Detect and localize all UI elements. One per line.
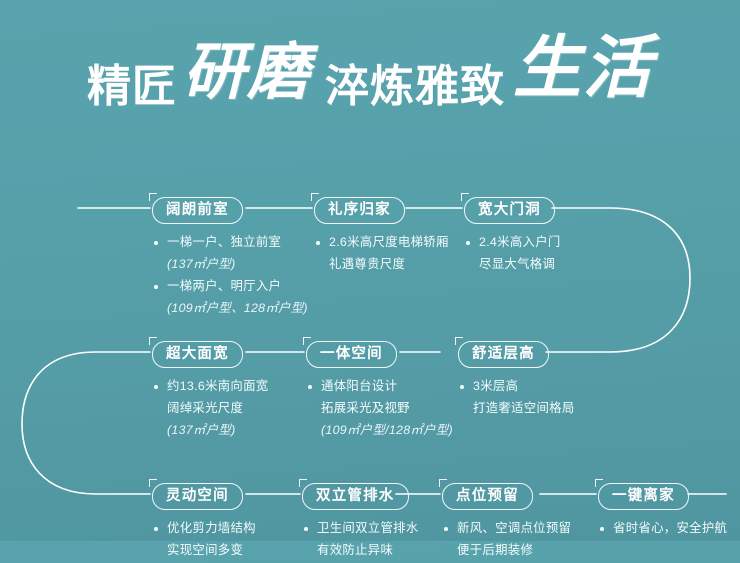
bullet-dot [460, 385, 464, 389]
card-body: 卫生间双立管排水 有效防止异味 [302, 519, 419, 560]
list-item-text: 礼遇尊贵尺度 [329, 257, 405, 271]
card-title: 超大面宽 [152, 341, 243, 368]
card-pill: 点位预留 [442, 483, 533, 510]
bullet-dot [154, 241, 158, 245]
list-item: (137㎡户型) [154, 255, 308, 274]
list-item-text: 拓展采光及视野 [321, 401, 410, 415]
list-item-text: (109㎡户型/128㎡户型) [321, 423, 453, 437]
headline-part-1: 精匠 [87, 65, 177, 109]
headline-part-2: 研磨 [183, 42, 311, 104]
card-pill: 礼序归家 [314, 197, 405, 224]
card-pill: 宽大门洞 [464, 197, 555, 224]
card-body: 一梯一户、独立前室 (137㎡户型) 一梯两户、明厅入户 (109㎡户型、128… [152, 233, 308, 318]
list-item: 2.4米高入户门 [466, 233, 561, 252]
list-item-text: 卫生间双立管排水 [317, 521, 419, 535]
card-title: 宽大门洞 [464, 197, 555, 224]
feature-card-yiti-kongjian[interactable]: 一体空间 通体阳台设计 拓展采光及视野 (109㎡户型/128㎡户型) [306, 341, 453, 443]
list-item-text: 2.4米高入户门 [479, 235, 561, 249]
list-item: 新风、空调点位预留 [444, 519, 571, 538]
card-title: 一体空间 [306, 341, 397, 368]
feature-card-lixu-guijia[interactable]: 礼序归家 2.6米高尺度电梯轿厢 礼遇尊贵尺度 [314, 197, 449, 277]
list-item: 礼遇尊贵尺度 [316, 255, 449, 274]
bullet-dot [466, 241, 470, 245]
bullet-dot [600, 527, 604, 531]
bullet-dot [154, 527, 158, 531]
feature-card-dianwei-yuliu[interactable]: 点位预留 新风、空调点位预留 便于后期装修 [442, 483, 571, 563]
card-pill: 阔朗前室 [152, 197, 243, 224]
list-item-text: 省时省心，安全护航 [613, 521, 727, 535]
list-item: 省时省心，安全护航 [600, 519, 727, 538]
list-item-text: 尽显大气格调 [479, 257, 555, 271]
card-pill: 灵动空间 [152, 483, 243, 510]
list-item: 一梯两户、明厅入户 [154, 277, 308, 296]
card-title: 一键离家 [598, 483, 689, 510]
card-pill: 舒适层高 [458, 341, 549, 368]
card-body: 省时省心，安全护航 [598, 519, 727, 538]
list-item: 优化剪力墙结构 [154, 519, 256, 538]
list-item: 实现空间多变 [154, 541, 256, 560]
list-item-text: 新风、空调点位预留 [457, 521, 571, 535]
card-title: 礼序归家 [314, 197, 405, 224]
list-item-text: 便于后期装修 [457, 543, 533, 557]
list-item-text: 优化剪力墙结构 [167, 521, 256, 535]
headline-part-3: 淬炼雅致 [325, 65, 505, 109]
list-item-text: (137㎡户型) [167, 257, 236, 271]
card-title: 点位预留 [442, 483, 533, 510]
list-item: 尽显大气格调 [466, 255, 561, 274]
list-item: (109㎡户型、128㎡户型) [154, 299, 308, 318]
list-item: 一梯一户、独立前室 [154, 233, 308, 252]
card-body: 2.4米高入户门 尽显大气格调 [464, 233, 561, 274]
card-body: 优化剪力墙结构 实现空间多变 [152, 519, 256, 560]
card-title: 阔朗前室 [152, 197, 243, 224]
page-title: 精匠研磨淬炼雅致生活 [0, 34, 740, 102]
list-item-text: 阔绰采光尺度 [167, 401, 243, 415]
list-item: 阔绰采光尺度 [154, 399, 268, 418]
list-item: 3米层高 [460, 377, 575, 396]
card-pill: 超大面宽 [152, 341, 243, 368]
list-item: 通体阳台设计 [308, 377, 453, 396]
list-item-text: 有效防止异味 [317, 543, 393, 557]
list-item: 打造奢适空间格局 [460, 399, 575, 418]
card-body: 2.6米高尺度电梯轿厢 礼遇尊贵尺度 [314, 233, 449, 274]
list-item: 有效防止异味 [304, 541, 419, 560]
list-item-text: 一梯一户、独立前室 [167, 235, 281, 249]
card-body: 通体阳台设计 拓展采光及视野 (109㎡户型/128㎡户型) [306, 377, 453, 440]
card-body: 约13.6米南向面宽 阔绰采光尺度 (137㎡户型) [152, 377, 268, 440]
list-item-text: 3米层高 [473, 379, 518, 393]
list-item: 约13.6米南向面宽 [154, 377, 268, 396]
card-pill: 双立管排水 [302, 483, 409, 510]
feature-card-kuanda-mendong[interactable]: 宽大门洞 2.4米高入户门 尽显大气格调 [464, 197, 561, 277]
feature-card-yijian-lijia[interactable]: 一键离家 省时省心，安全护航 [598, 483, 727, 541]
bullet-dot [444, 527, 448, 531]
list-item-text: 一梯两户、明厅入户 [167, 279, 281, 293]
list-item: (137㎡户型) [154, 421, 268, 440]
feature-card-shushi-cenggao[interactable]: 舒适层高 3米层高 打造奢适空间格局 [458, 341, 575, 421]
list-item: 便于后期装修 [444, 541, 571, 560]
feature-card-chaoda-mian-kuan[interactable]: 超大面宽 约13.6米南向面宽 阔绰采光尺度 (137㎡户型) [152, 341, 268, 443]
list-item: (109㎡户型/128㎡户型) [308, 421, 453, 440]
bullet-dot [308, 385, 312, 389]
bullet-dot [154, 285, 158, 289]
card-title: 灵动空间 [152, 483, 243, 510]
feature-card-kuolang-qianshi[interactable]: 阔朗前室 一梯一户、独立前室 (137㎡户型) 一梯两户、明厅入户 (109㎡户… [152, 197, 308, 321]
list-item-text: (137㎡户型) [167, 423, 236, 437]
card-pill: 一体空间 [306, 341, 397, 368]
list-item: 卫生间双立管排水 [304, 519, 419, 538]
card-body: 新风、空调点位预留 便于后期装修 [442, 519, 571, 560]
bullet-dot [154, 385, 158, 389]
card-title: 舒适层高 [458, 341, 549, 368]
headline-part-4: 生活 [513, 34, 653, 102]
list-item: 2.6米高尺度电梯轿厢 [316, 233, 449, 252]
card-title: 双立管排水 [302, 483, 409, 510]
card-body: 3米层高 打造奢适空间格局 [458, 377, 575, 418]
list-item-text: (109㎡户型、128㎡户型) [167, 301, 308, 315]
card-pill: 一键离家 [598, 483, 689, 510]
list-item-text: 约13.6米南向面宽 [167, 379, 268, 393]
feature-card-lingdong-kongjian[interactable]: 灵动空间 优化剪力墙结构 实现空间多变 [152, 483, 256, 563]
list-item-text: 通体阳台设计 [321, 379, 397, 393]
list-item-text: 打造奢适空间格局 [473, 401, 575, 415]
feature-card-shuangliguan-paishui[interactable]: 双立管排水 卫生间双立管排水 有效防止异味 [302, 483, 419, 563]
list-item: 拓展采光及视野 [308, 399, 453, 418]
list-item-text: 实现空间多变 [167, 543, 243, 557]
bullet-dot [304, 527, 308, 531]
bullet-dot [316, 241, 320, 245]
list-item-text: 2.6米高尺度电梯轿厢 [329, 235, 449, 249]
